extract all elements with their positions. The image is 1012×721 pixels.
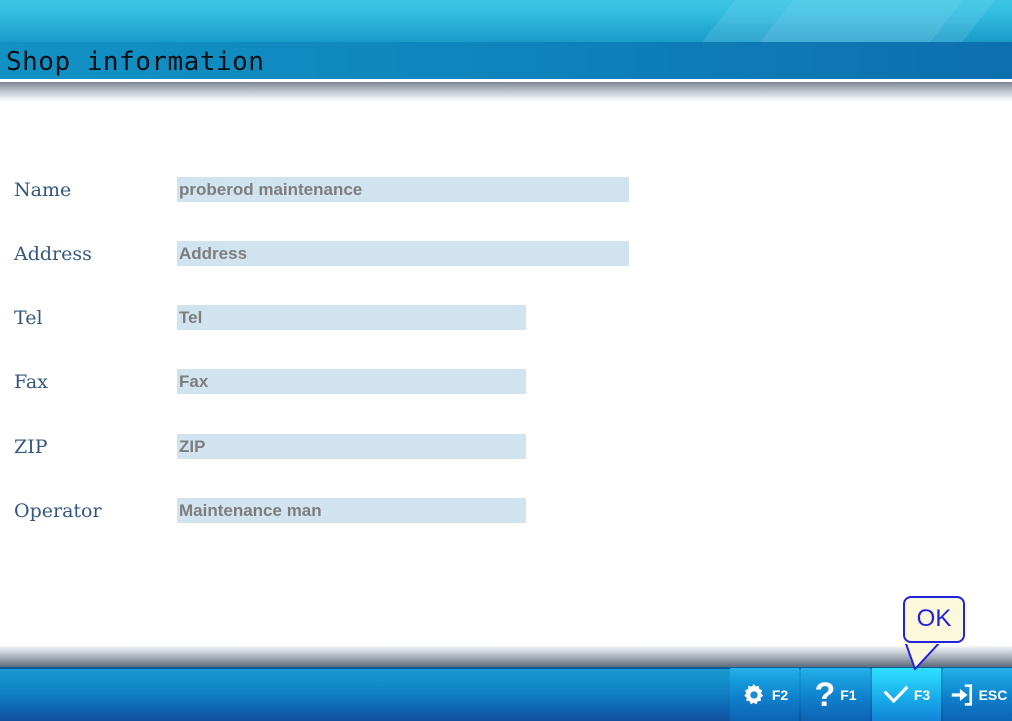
ok-tooltip: OK xyxy=(903,596,965,643)
toolbar-button-f1[interactable]: ?F1 xyxy=(801,668,870,721)
toolbar-button-key-f3: F3 xyxy=(914,687,930,703)
toolbar-button-key-f2: F2 xyxy=(772,687,788,703)
form-input-value-address: Address xyxy=(179,241,247,266)
form-input-operator[interactable]: Maintenance man xyxy=(177,498,526,523)
form-input-name[interactable]: proberod maintenance xyxy=(177,177,629,202)
toolbar-button-f3[interactable]: F3 xyxy=(872,668,941,721)
page-title: Shop information xyxy=(6,48,264,76)
form-input-value-zip: ZIP xyxy=(179,434,205,459)
form-input-fax[interactable]: Fax xyxy=(177,369,526,394)
toolbar-button-content: ?F1 xyxy=(801,668,870,721)
form-input-address[interactable]: Address xyxy=(177,241,629,266)
form-input-value-tel: Tel xyxy=(179,305,202,330)
form-input-value-fax: Fax xyxy=(179,369,208,394)
function-key-toolbar: F2?F1F3ESC xyxy=(730,668,1012,721)
toolbar-button-content: ESC xyxy=(943,668,1012,721)
form-input-zip[interactable]: ZIP xyxy=(177,434,526,459)
check-icon xyxy=(883,682,909,708)
toolbar-button-esc[interactable]: ESC xyxy=(943,668,1012,721)
form-input-value-operator: Maintenance man xyxy=(179,498,322,523)
header-top-band xyxy=(0,0,1012,42)
bottom-bar-shadow xyxy=(0,645,1012,667)
gear-icon xyxy=(741,682,767,708)
form-label-fax: Fax xyxy=(14,369,48,395)
form-label-tel: Tel xyxy=(14,305,43,331)
ok-tooltip-tail xyxy=(899,641,943,671)
toolbar-button-content: F3 xyxy=(872,668,941,721)
toolbar-button-f2[interactable]: F2 xyxy=(730,668,799,721)
question-icon: ? xyxy=(814,682,835,708)
exit-icon xyxy=(948,682,974,708)
toolbar-button-key-f1: F1 xyxy=(840,687,856,703)
form-label-address: Address xyxy=(14,241,92,267)
form-label-name: Name xyxy=(14,177,71,203)
form-input-tel[interactable]: Tel xyxy=(177,305,526,330)
toolbar-button-content: F2 xyxy=(730,668,799,721)
toolbar-button-key-esc: ESC xyxy=(979,687,1008,703)
form-label-operator: Operator xyxy=(14,498,102,524)
form-input-value-name: proberod maintenance xyxy=(179,177,362,202)
form-label-zip: ZIP xyxy=(14,434,48,460)
app-header: Shop information xyxy=(0,0,1012,81)
header-drop-shadow xyxy=(0,82,1012,102)
ok-tooltip-label: OK xyxy=(905,605,963,633)
